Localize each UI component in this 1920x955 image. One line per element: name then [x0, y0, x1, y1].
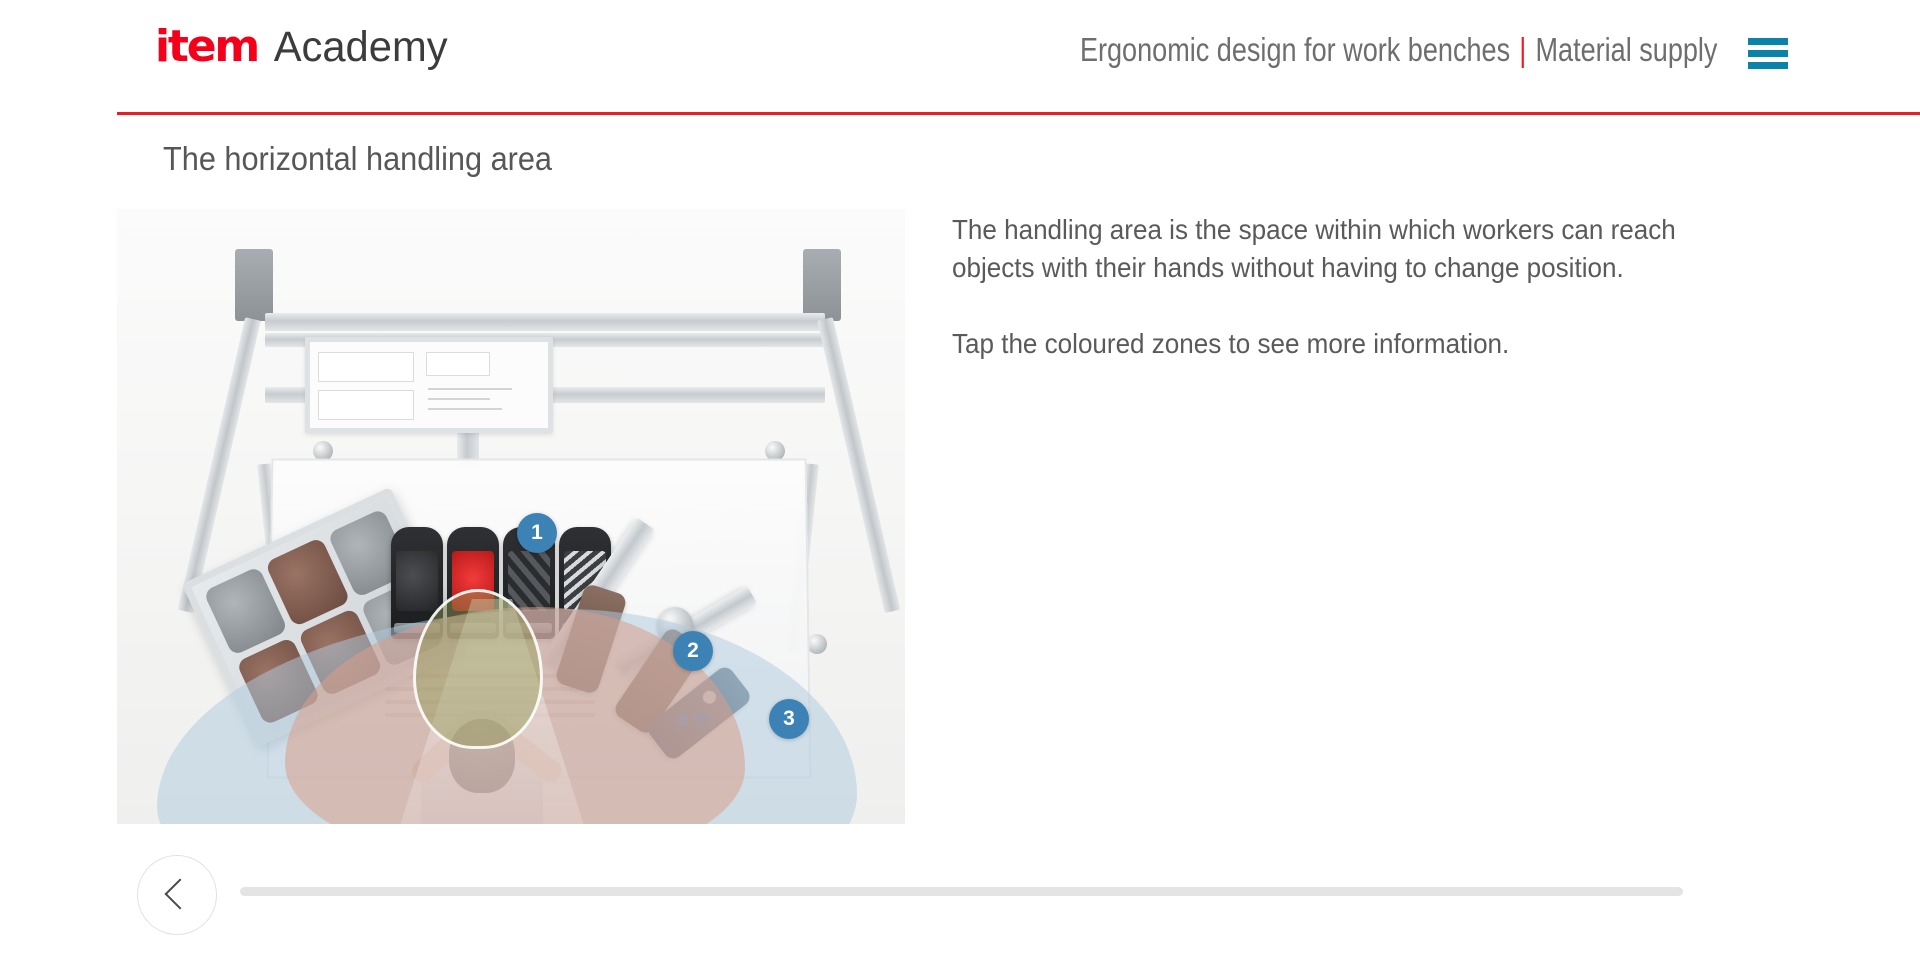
- menu-bar-top: [1748, 38, 1788, 45]
- logo[interactable]: item Academy: [155, 25, 450, 69]
- hamburger-menu-icon[interactable]: [1745, 30, 1791, 76]
- logo-suffix-text: Academy: [274, 26, 448, 69]
- breadcrumb-course-title: Ergonomic design for work benches: [1079, 31, 1509, 68]
- zone-marker-1[interactable]: 1: [517, 513, 557, 553]
- zone-marker-2[interactable]: 2: [673, 631, 713, 671]
- content-text-column: The handling area is the space within wh…: [952, 211, 1692, 363]
- breadcrumb: Ergonomic design for work benches | Mate…: [1079, 31, 1717, 69]
- page-title: The horizontal handling area: [163, 140, 552, 178]
- menu-bar-bottom: [1748, 62, 1788, 69]
- logo-brand-text: item: [155, 25, 258, 69]
- breadcrumb-separator: |: [1519, 31, 1526, 68]
- menu-bar-middle: [1748, 50, 1788, 57]
- breadcrumb-module-title: Material supply: [1535, 31, 1717, 68]
- chevron-left-icon: [164, 878, 195, 909]
- workbench-scene: 1 2 3: [117, 209, 905, 824]
- interactive-illustration[interactable]: 1 2 3: [117, 209, 905, 824]
- body-paragraph-1: The handling area is the space within wh…: [952, 211, 1696, 287]
- previous-slide-button[interactable]: [137, 855, 217, 935]
- zone-marker-3[interactable]: 3: [769, 699, 809, 739]
- body-paragraph-2: Tap the coloured zones to see more infor…: [952, 325, 1696, 363]
- progress-bar[interactable]: [240, 887, 1683, 896]
- handling-zone-overlay: 1 2 3: [117, 209, 905, 824]
- page-root: item Academy Ergonomic design for work b…: [0, 0, 1920, 955]
- header-divider: [117, 112, 1920, 115]
- app-header: item Academy Ergonomic design for work b…: [0, 0, 1920, 116]
